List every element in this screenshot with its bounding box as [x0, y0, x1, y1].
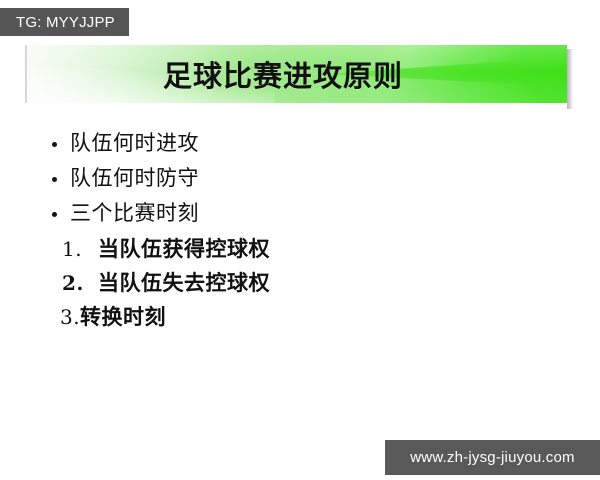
source-badge-label: TG: MYYJJPP [16, 14, 115, 31]
bullet-list: 队伍何时进攻 队伍何时防守 三个比赛时刻 [48, 128, 568, 229]
bullet-text: 队伍何时防守 [70, 166, 199, 190]
source-badge: TG: MYYJJPP [0, 8, 129, 36]
list-item-text: 转换时刻 [80, 301, 166, 332]
list-item: 1. 当队伍获得控球权 [48, 233, 568, 265]
list-item: 2. 当队伍失去控球权 [48, 267, 568, 299]
list-item: 队伍何时防守 [48, 163, 568, 194]
slide-body: 队伍何时进攻 队伍何时防守 三个比赛时刻 1. 当队伍获得控球权 2. 当队伍失… [48, 128, 568, 335]
title-banner-fill: 足球比赛进攻原则 [27, 45, 567, 103]
list-item-text: 当队伍失去控球权 [98, 267, 270, 298]
banner-right-shadow [567, 49, 573, 109]
list-item: 3. 转换时刻 [48, 301, 568, 333]
list-item: 队伍何时进攻 [48, 128, 568, 159]
list-item: 三个比赛时刻 [48, 198, 568, 229]
watermark-url-label: www.zh-jysg-jiuyou.com [410, 449, 574, 466]
watermark-url: www.zh-jysg-jiuyou.com [385, 440, 600, 475]
title-banner: 足球比赛进攻原则 [25, 45, 573, 105]
page-title: 足球比赛进攻原则 [27, 45, 567, 103]
bullet-text: 三个比赛时刻 [70, 201, 199, 225]
slide-canvas: TG: MYYJJPP 足球比赛进攻原则 队伍何时进攻 队伍何时防守 三个比赛时… [0, 0, 600, 480]
bullet-text: 队伍何时进攻 [70, 131, 199, 155]
list-item-number: 2. [62, 268, 98, 299]
numbered-sub-list: 1. 当队伍获得控球权 2. 当队伍失去控球权 3. 转换时刻 [48, 233, 568, 333]
list-item-number: 1. [62, 234, 98, 265]
list-item-number: 3. [60, 302, 80, 333]
list-item-text: 当队伍获得控球权 [98, 233, 270, 264]
